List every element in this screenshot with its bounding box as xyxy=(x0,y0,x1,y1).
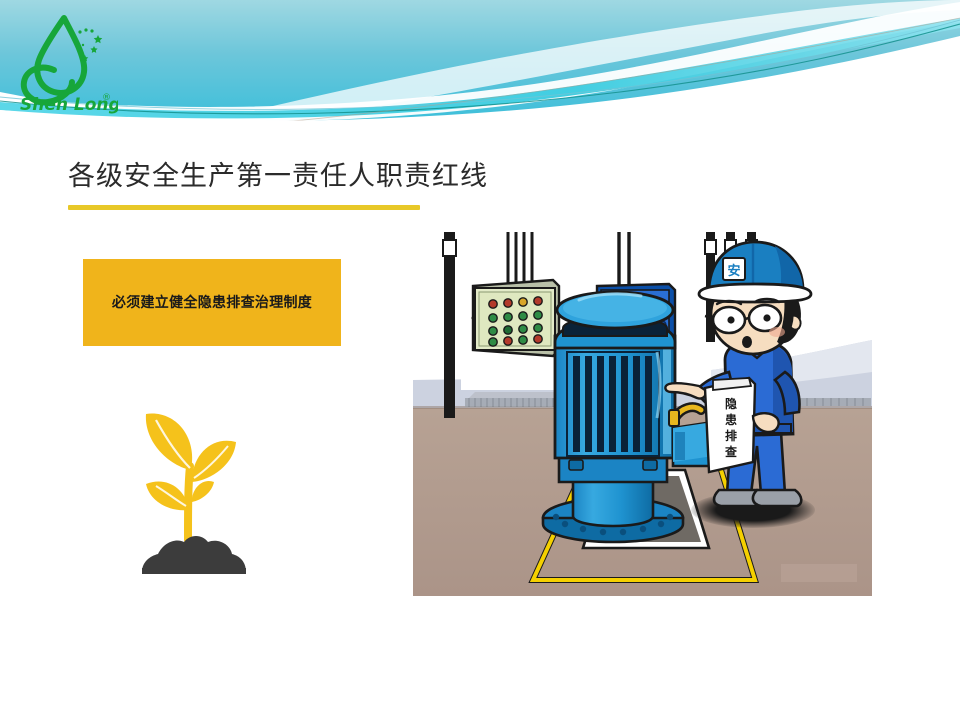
page-title: 各级安全生产第一责任人职责红线 xyxy=(68,160,488,194)
helmet-badge-text: 安 xyxy=(727,263,740,279)
policy-callout-box: 必须建立健全隐患排查治理制度 xyxy=(83,259,341,346)
left-vertical-pipe xyxy=(443,232,456,418)
checklist-char-1: 隐 xyxy=(725,396,737,411)
hazard-checklist-paper: 隐 患 排 查 xyxy=(705,378,755,472)
growing-plant-graphic xyxy=(122,390,258,580)
presentation-slide: Shen Long ® 各级安全生产第一责任人职责红线 必须建立健全隐患排查治理… xyxy=(0,0,960,720)
indicator-light-panel xyxy=(471,280,559,356)
image-watermark xyxy=(781,564,857,582)
checklist-char-4: 查 xyxy=(724,444,738,459)
top-wave-banner xyxy=(0,0,960,128)
checklist-char-3: 排 xyxy=(725,428,737,443)
shen-long-logo: Shen Long ® xyxy=(14,12,118,114)
hazard-inspection-cartoon: 隐 患 排 查 xyxy=(413,232,872,596)
checklist-char-2: 患 xyxy=(725,412,737,427)
title-underline-rule xyxy=(68,205,420,210)
logo-registered-mark: ® xyxy=(102,93,111,103)
policy-callout-text: 必须建立健全隐患排查治理制度 xyxy=(112,292,312,314)
